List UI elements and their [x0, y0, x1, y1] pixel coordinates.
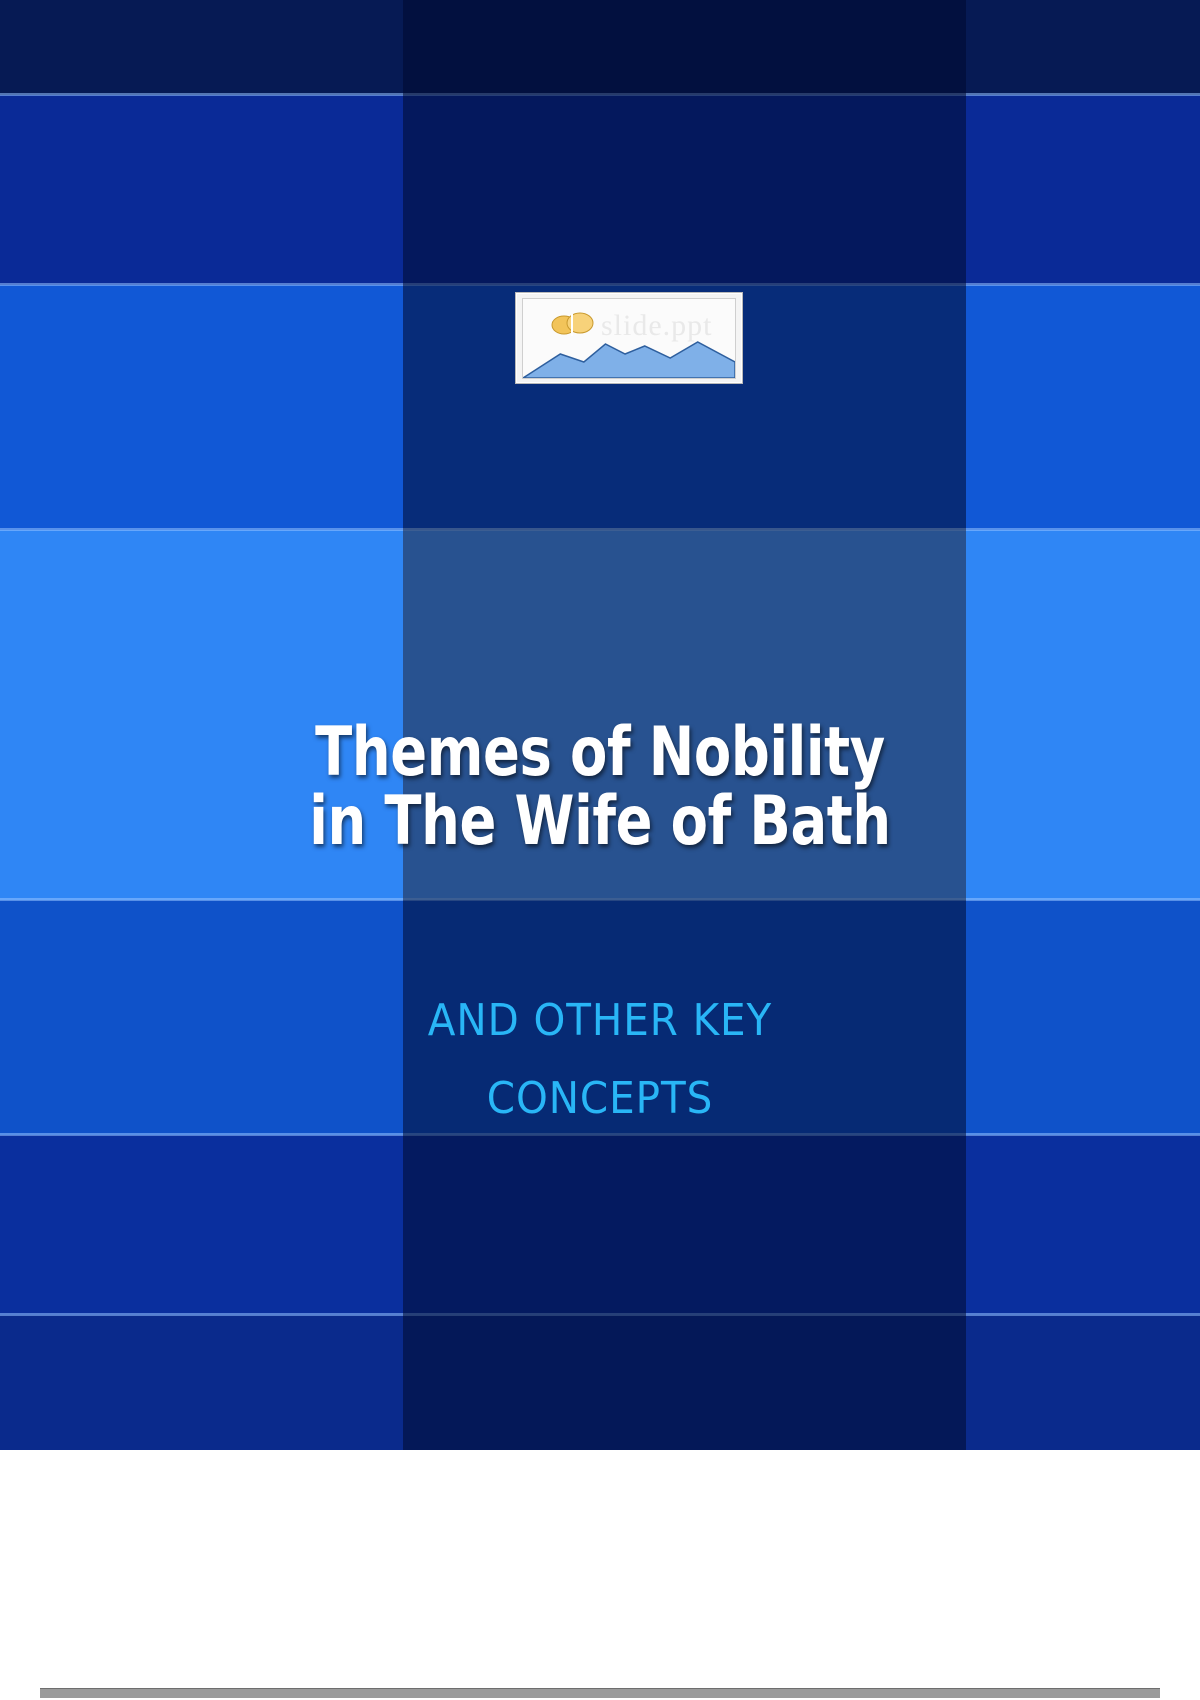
- placeholder-inner-frame: slide.ppt: [522, 298, 736, 379]
- slide-subtitle: AND OTHER KEY CONCEPTS: [48, 982, 1152, 1139]
- slide-title: Themes of Nobility in The Wife of Bath: [120, 718, 1080, 857]
- presentation-slide[interactable]: slide.ppt Themes of Nobility in The Wife…: [0, 0, 1200, 1450]
- broken-image-placeholder[interactable]: slide.ppt: [515, 292, 743, 384]
- page-white-area: [0, 1450, 1200, 1700]
- placeholder-alt-text: slide.ppt: [601, 309, 713, 343]
- document-surface: slide.ppt Themes of Nobility in The Wife…: [0, 0, 1200, 1700]
- bottom-scroll-bar[interactable]: [40, 1688, 1160, 1698]
